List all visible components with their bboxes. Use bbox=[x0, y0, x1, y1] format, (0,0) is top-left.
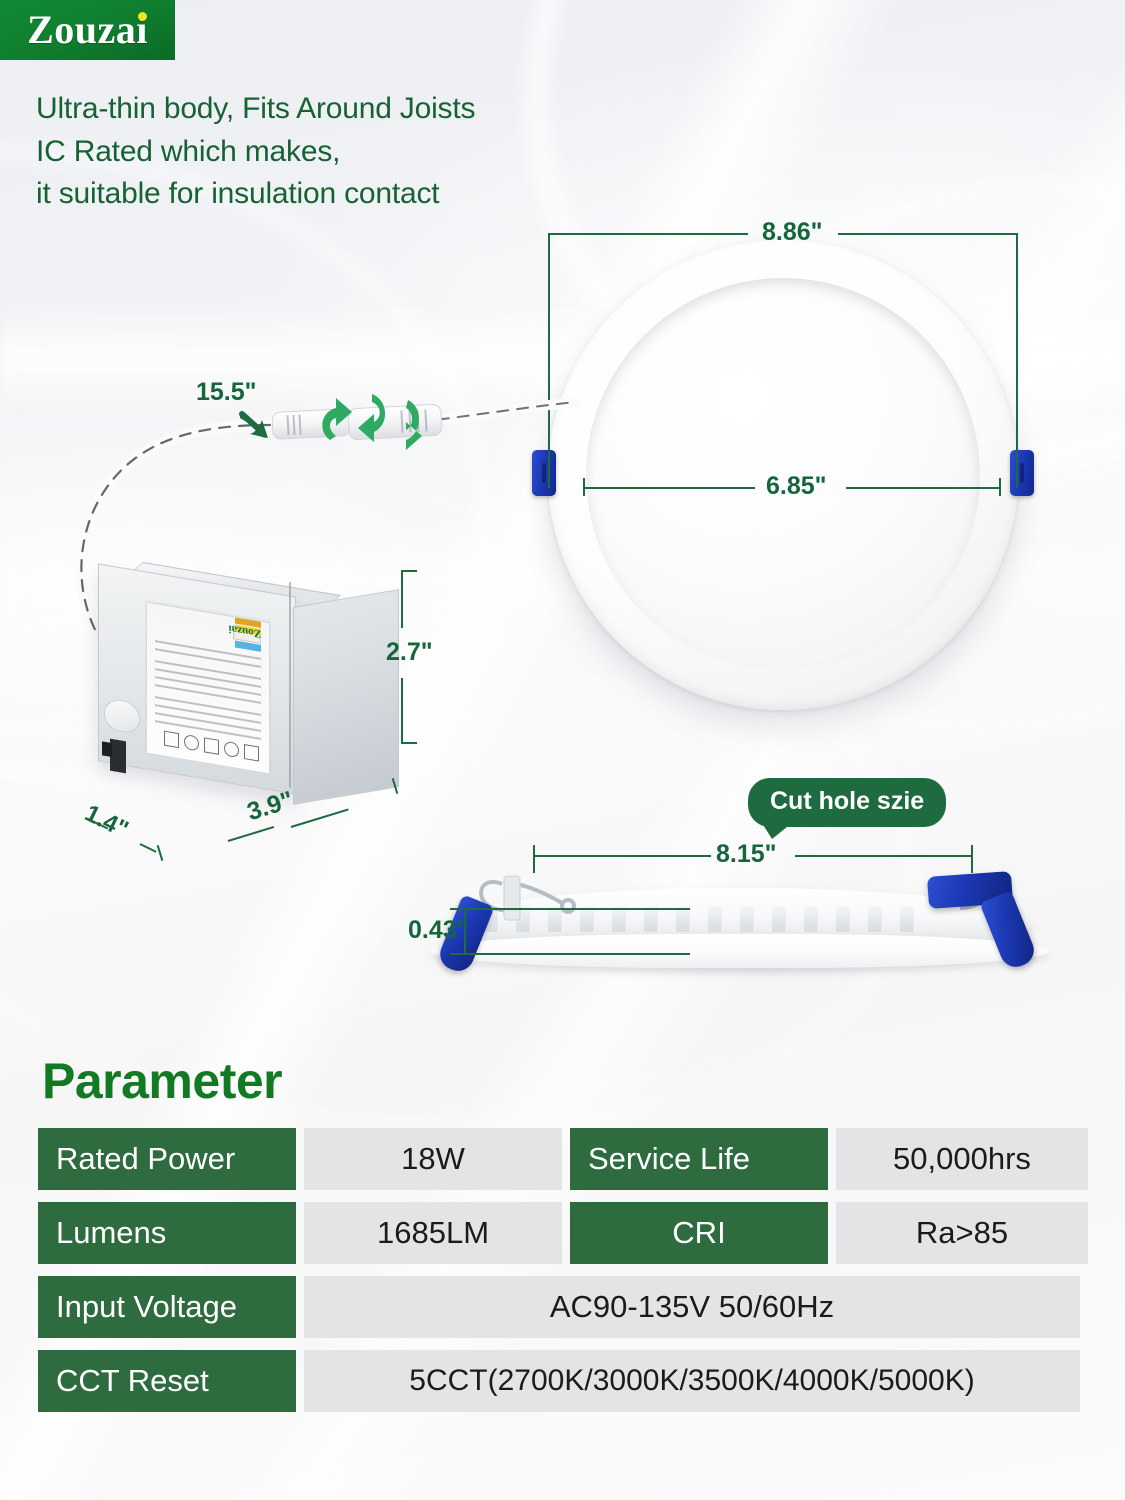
dim-line-outer-top-b bbox=[838, 233, 1018, 235]
dim-label-cable-length: 15.5" bbox=[196, 378, 257, 407]
param-key-cri: CRI bbox=[570, 1202, 828, 1264]
dim-line-outer-right bbox=[1016, 233, 1018, 488]
panel-clip-right bbox=[1010, 450, 1034, 496]
param-key-cct-reset: CCT Reset bbox=[38, 1350, 296, 1412]
fixture-side-view bbox=[420, 860, 1060, 1000]
dim-line-cut-b bbox=[795, 855, 973, 857]
dim-label-inner-diameter: 6.85" bbox=[766, 472, 827, 501]
param-value-rated-power: 18W bbox=[304, 1128, 562, 1190]
dim-tick-cut-left bbox=[533, 845, 535, 873]
param-value-cri: Ra>85 bbox=[836, 1202, 1088, 1264]
brand-logo-text: Zouzai bbox=[27, 10, 148, 50]
param-key-rated-power: Rated Power bbox=[38, 1128, 296, 1190]
dim-line-inner-b bbox=[846, 487, 1001, 489]
dim-line-thickness-top bbox=[450, 908, 690, 910]
param-key-service-life: Service Life bbox=[570, 1128, 828, 1190]
infographic-page: Zouzai Ultra-thin body, Fits Around Jois… bbox=[0, 0, 1125, 1500]
logo-dot-icon bbox=[138, 12, 147, 21]
parameter-table: Rated Power 18W Service Life 50,000hrs L… bbox=[38, 1128, 1088, 1424]
table-row: CCT Reset 5CCT(2700K/3000K/3500K/4000K/5… bbox=[38, 1350, 1088, 1412]
dim-line-height-upper bbox=[401, 570, 403, 628]
param-key-input-voltage: Input Voltage bbox=[38, 1276, 296, 1338]
driver-box-seam bbox=[289, 582, 291, 788]
dim-tick-cut-right bbox=[971, 845, 973, 873]
dim-tick-height-bottom bbox=[401, 742, 417, 744]
table-row: Rated Power 18W Service Life 50,000hrs bbox=[38, 1128, 1088, 1190]
brand-logo: Zouzai bbox=[0, 0, 175, 60]
dim-label-outer-diameter: 8.86" bbox=[762, 218, 823, 247]
dim-tick-height-top bbox=[401, 570, 417, 572]
driver-cct-switch bbox=[110, 739, 126, 774]
dim-label-thickness: 0.43" bbox=[408, 916, 469, 945]
param-value-cct-reset: 5CCT(2700K/3000K/3500K/4000K/5000K) bbox=[304, 1350, 1080, 1412]
twist-rotation-arrows-icon bbox=[312, 388, 442, 460]
dim-line-cut-a bbox=[533, 855, 711, 857]
headline-text: Ultra-thin body, Fits Around Joists IC R… bbox=[36, 88, 475, 216]
dim-line-height-lower bbox=[401, 678, 403, 744]
cut-hole-size-badge: Cut hole szie bbox=[748, 778, 946, 827]
dim-line-thickness-bottom bbox=[450, 953, 690, 955]
cable-length-arrow-icon bbox=[236, 408, 272, 442]
table-row: Lumens 1685LM CRI Ra>85 bbox=[38, 1202, 1088, 1264]
dim-label-cut-hole: 8.15" bbox=[716, 840, 777, 869]
dim-label-driver-height: 2.7" bbox=[386, 638, 433, 667]
param-value-service-life: 50,000hrs bbox=[836, 1128, 1088, 1190]
table-row: Input Voltage AC90-135V 50/60Hz bbox=[38, 1276, 1088, 1338]
param-value-lumens: 1685LM bbox=[304, 1202, 562, 1264]
dim-line-outer-top-a bbox=[548, 233, 748, 235]
param-key-lumens: Lumens bbox=[38, 1202, 296, 1264]
driver-box-side-face bbox=[293, 589, 399, 805]
led-driver-box: Zouzai bbox=[88, 552, 408, 802]
param-value-input-voltage: AC90-135V 50/60Hz bbox=[304, 1276, 1080, 1338]
driver-spec-label: Zouzai bbox=[146, 602, 270, 775]
page-title: Parameter bbox=[42, 1052, 282, 1110]
